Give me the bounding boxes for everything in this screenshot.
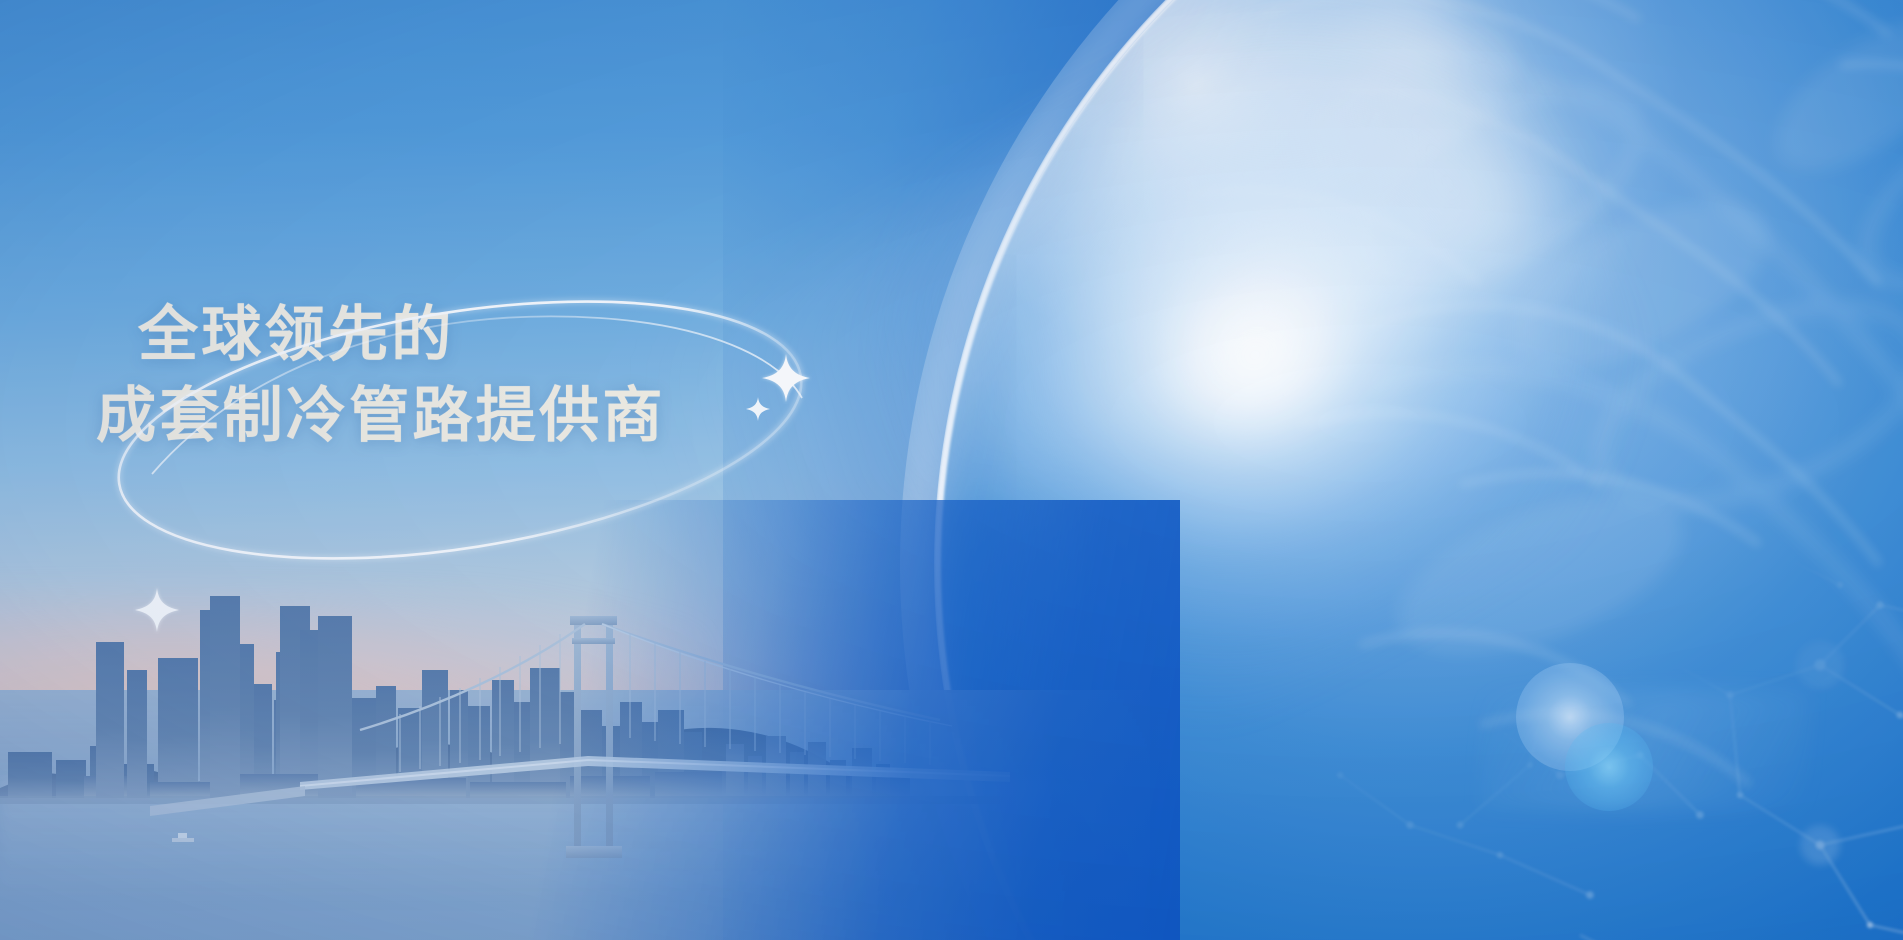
headline-line-2: 成套制冷管路提供商 <box>96 381 816 452</box>
lens-flare-streak <box>1480 690 1810 810</box>
hero-banner: 全球领先的 成套制冷管路提供商 <box>0 0 1903 940</box>
city-skyline-group <box>0 520 1100 940</box>
headline-block: 全球领先的 成套制冷管路提供商 <box>96 300 816 452</box>
headline-line-1: 全球领先的 <box>138 300 816 371</box>
